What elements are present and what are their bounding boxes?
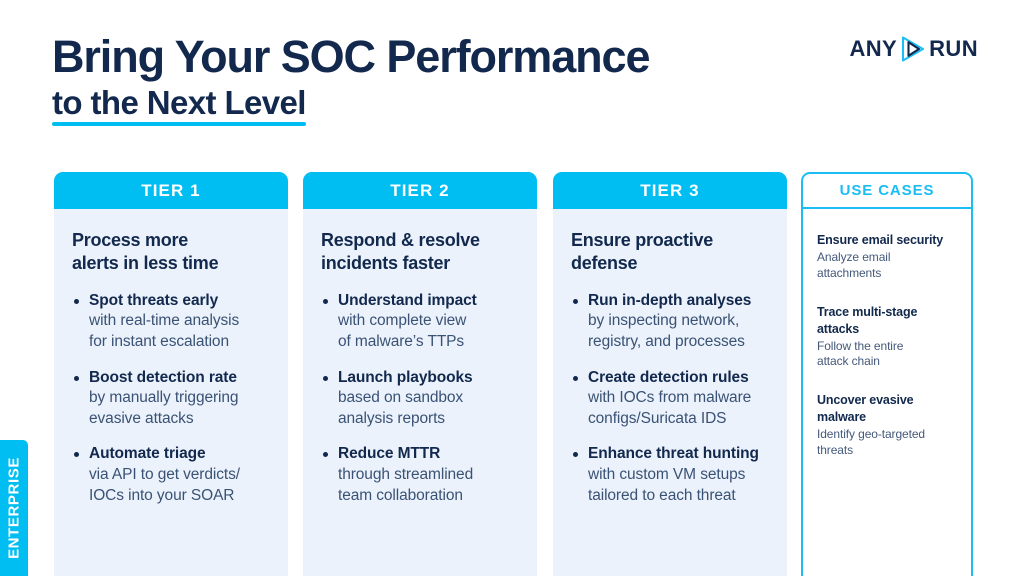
list-item-desc: Identify geo-targeted threats	[817, 427, 957, 459]
list-item-title: Spot threats early	[89, 291, 270, 312]
use-cases-panel[interactable]: USE CASES Ensure email security Analyze …	[801, 172, 973, 576]
tier-card-2-heading: Respond & resolve incidents faster	[321, 229, 519, 275]
list-item-desc: Analyze email attachments	[817, 250, 957, 282]
list-item-desc: via API to get verdicts/ IOCs into your …	[89, 465, 270, 506]
tier-card-2[interactable]: TIER 2 Respond & resolve incidents faste…	[303, 172, 537, 576]
slide-canvas: ENTERPRISE Bring Your SOC Performance to…	[0, 0, 1024, 576]
bullet-dot-icon	[323, 299, 328, 304]
list-item: Launch playbooks based on sandbox analys…	[321, 368, 519, 430]
list-item: Trace multi-stage attacks Follow the ent…	[817, 304, 957, 371]
tier-card-1-heading: Process more alerts in less time	[72, 229, 270, 275]
list-item: Automate triage via API to get verdicts/…	[72, 444, 270, 506]
bullet-dot-icon	[74, 299, 79, 304]
list-item-desc: Follow the entire attack chain	[817, 339, 957, 371]
list-item: Run in-depth analyses by inspecting netw…	[571, 291, 769, 353]
list-item-desc: with custom VM setups tailored to each t…	[588, 465, 769, 506]
use-cases-body: Ensure email security Analyze email atta…	[803, 209, 971, 459]
tier-card-2-body: Respond & resolve incidents faster Under…	[303, 209, 537, 506]
tier-card-1-header: TIER 1	[54, 172, 288, 209]
logo-text-any: ANY	[849, 38, 897, 60]
list-item-title: Reduce MTTR	[338, 444, 519, 465]
tier-card-3-header: TIER 3	[553, 172, 787, 209]
list-item: Enhance threat hunting with custom VM se…	[571, 444, 769, 506]
list-item: Boost detection rate by manually trigger…	[72, 368, 270, 430]
bullet-dot-icon	[74, 452, 79, 457]
list-item-title: Uncover evasive malware	[817, 392, 957, 426]
tier-card-1-body: Process more alerts in less time Spot th…	[54, 209, 288, 506]
list-item-title: Ensure email security	[817, 232, 957, 249]
tier-card-2-header: TIER 2	[303, 172, 537, 209]
page-subtitle-wrap: to the Next Level	[52, 86, 306, 121]
tier-card-3-badge: TIER 3	[640, 181, 700, 201]
tier-card-2-badge: TIER 2	[390, 181, 450, 201]
list-item: Create detection rules with IOCs from ma…	[571, 368, 769, 430]
list-item-desc: by inspecting network, registry, and pro…	[588, 311, 769, 352]
list-item: Uncover evasive malware Identify geo-tar…	[817, 392, 957, 459]
list-item-title: Run in-depth analyses	[588, 291, 769, 312]
list-item-desc: by manually triggering evasive attacks	[89, 388, 270, 429]
tier-card-3[interactable]: TIER 3 Ensure proactive defense Run in-d…	[553, 172, 787, 576]
bullet-dot-icon	[573, 452, 578, 457]
list-item-title: Create detection rules	[588, 368, 769, 389]
bullet-dot-icon	[323, 452, 328, 457]
bullet-dot-icon	[323, 376, 328, 381]
list-item: Reduce MTTR through streamlined team col…	[321, 444, 519, 506]
list-item-title: Launch playbooks	[338, 368, 519, 389]
tier-card-3-body: Ensure proactive defense Run in-depth an…	[553, 209, 787, 506]
page-title-block: Bring Your SOC Performance to the Next L…	[52, 34, 649, 121]
bullet-dot-icon	[573, 299, 578, 304]
list-item-desc: with complete view of malware’s TTPs	[338, 311, 519, 352]
list-item-title: Trace multi-stage attacks	[817, 304, 957, 338]
page-subtitle: to the Next Level	[52, 86, 306, 121]
list-item-title: Enhance threat hunting	[588, 444, 769, 465]
tier-card-1-bullets: Spot threats early with real-time analys…	[72, 291, 270, 506]
list-item: Ensure email security Analyze email atta…	[817, 232, 957, 282]
anyrun-logo[interactable]: ANY RUN	[849, 34, 978, 64]
list-item: Understand impact with complete view of …	[321, 291, 519, 353]
bullet-dot-icon	[74, 376, 79, 381]
bullet-dot-icon	[573, 376, 578, 381]
list-item-title: Automate triage	[89, 444, 270, 465]
list-item-desc: with real-time analysis for instant esca…	[89, 311, 270, 352]
list-item-desc: through streamlined team collaboration	[338, 465, 519, 506]
tier-card-2-bullets: Understand impact with complete view of …	[321, 291, 519, 506]
enterprise-side-tab[interactable]: ENTERPRISE	[0, 440, 28, 576]
use-cases-badge: USE CASES	[840, 182, 935, 199]
logo-text-run: RUN	[929, 38, 978, 60]
list-item-desc: with IOCs from malware configs/Suricata …	[588, 388, 769, 429]
list-item: Spot threats early with real-time analys…	[72, 291, 270, 353]
tier-card-3-bullets: Run in-depth analyses by inspecting netw…	[571, 291, 769, 506]
list-item-title: Understand impact	[338, 291, 519, 312]
tier-card-3-heading: Ensure proactive defense	[571, 229, 769, 275]
play-triangle-icon	[898, 34, 928, 64]
page-title: Bring Your SOC Performance	[52, 34, 649, 79]
enterprise-side-tab-label: ENTERPRISE	[6, 457, 23, 559]
use-cases-header: USE CASES	[803, 174, 971, 209]
subtitle-underline	[52, 122, 306, 126]
tier-card-1-badge: TIER 1	[141, 181, 201, 201]
list-item-desc: based on sandbox analysis reports	[338, 388, 519, 429]
tier-card-1[interactable]: TIER 1 Process more alerts in less time …	[54, 172, 288, 576]
list-item-title: Boost detection rate	[89, 368, 270, 389]
